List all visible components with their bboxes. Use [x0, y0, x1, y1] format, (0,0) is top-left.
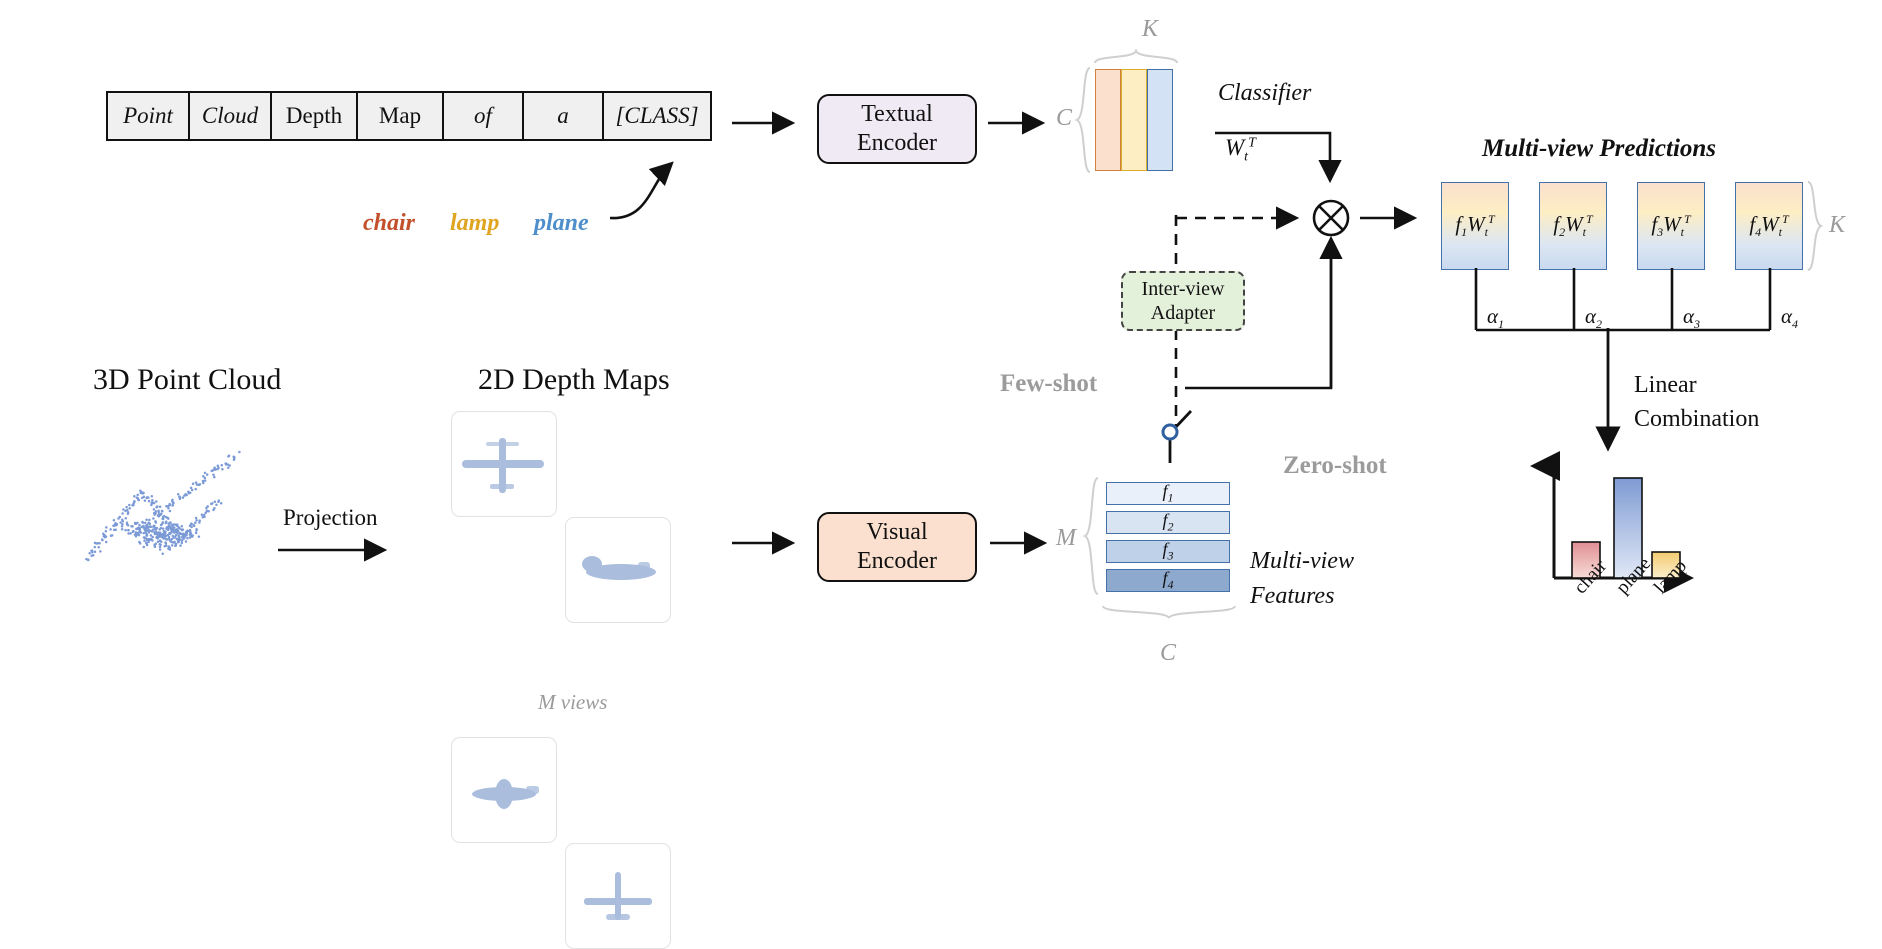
depth-map-thumb-1[interactable] [451, 411, 557, 517]
feature-row-f4: f4 [1106, 569, 1230, 592]
arrow-visual-encoder-to-features [990, 533, 1056, 553]
feature-label-f3: f3 [1162, 539, 1173, 564]
arrow-zero-shot-to-multiply [1318, 233, 1338, 391]
depth-map-shape-top [452, 738, 556, 842]
zero-shot-switch-path [1155, 240, 1345, 425]
visual-encoder-box[interactable]: Visual Encoder [817, 512, 977, 582]
arrow-textual-encoder-to-classifier [988, 113, 1054, 133]
classifier-matrix [1095, 69, 1173, 171]
features-brace-left [1082, 476, 1100, 598]
point-cloud-title: 3D Point Cloud [93, 363, 281, 397]
multi-view-features-line2: Features [1250, 583, 1334, 610]
prompt-token-cloud: Cloud [190, 93, 272, 139]
arrow-adapter-to-multiply-dashed [1176, 208, 1308, 228]
alpha-label-1: α1 [1487, 304, 1504, 332]
visual-encoder-line1: Visual [866, 518, 927, 547]
predictions-brace-right [1806, 180, 1824, 272]
depth-map-thumb-3[interactable] [451, 737, 557, 843]
feature-label-f4: f4 [1162, 568, 1173, 593]
prompt-token-class: [CLASS] [604, 93, 710, 139]
prompt-token-a: a [524, 93, 604, 139]
visual-encoder-line2: Encoder [857, 547, 937, 576]
feature-label-f1: f1 [1162, 481, 1173, 506]
prediction-label-4: f4WtT [1749, 212, 1788, 240]
feature-row-f1: f1 [1106, 482, 1230, 505]
projection-label: Projection [283, 505, 378, 531]
m-views-label: M views [538, 690, 607, 715]
prediction-box-3: f3WtT [1637, 182, 1705, 270]
textual-encoder-line2: Encoder [857, 129, 937, 158]
arrow-depthmaps-to-visual-encoder [732, 533, 804, 553]
prediction-box-2: f2WtT [1539, 182, 1607, 270]
features-dim-C: C [1160, 640, 1176, 667]
arrow-projection [278, 540, 398, 560]
multi-view-predictions-title: Multi-view Predictions [1482, 135, 1716, 163]
prediction-label-2: f2WtT [1553, 212, 1592, 240]
depth-map-shape-side [566, 518, 670, 622]
feature-row-f2: f2 [1106, 511, 1230, 534]
depth-map-thumb-2[interactable] [565, 517, 671, 623]
linear-combination-line2: Combination [1634, 406, 1759, 433]
textual-encoder-box[interactable]: Textual Encoder [817, 94, 977, 164]
classifier-column-plane [1147, 69, 1173, 171]
few-shot-label: Few-shot [1000, 370, 1097, 398]
linear-combination-line1: Linear [1634, 372, 1697, 399]
prompt-token-row: Point Cloud Depth Map of a [CLASS] [106, 91, 712, 141]
prediction-label-3: f3WtT [1651, 212, 1690, 240]
result-bar-chart: chair plane lamp [1540, 460, 1830, 590]
features-brace-bottom [1101, 604, 1237, 621]
classifier-brace-top [1093, 48, 1179, 65]
arrow-multiply-to-predictions [1360, 208, 1426, 228]
classifier-dim-K: K [1142, 16, 1158, 43]
prompt-token-point: Point [108, 93, 190, 139]
class-word-chair: chair [363, 210, 415, 237]
arrow-classifier-to-multiply [1215, 128, 1375, 206]
arrow-linear-combination [1596, 328, 1620, 468]
depth-map-thumb-4[interactable] [565, 843, 671, 949]
prompt-token-of: of [444, 93, 524, 139]
class-curve-arrow [596, 140, 706, 230]
arrow-prompt-to-textual-encoder [732, 113, 804, 133]
prediction-box-4: f4WtT [1735, 182, 1803, 270]
textual-encoder-line1: Textual [861, 100, 933, 129]
depth-maps-title: 2D Depth Maps [478, 363, 670, 397]
alpha-label-3: α3 [1683, 304, 1700, 332]
point-cloud-illustration [70, 440, 280, 580]
switch-toggle-icon[interactable] [1150, 405, 1196, 465]
alpha-label-4: α4 [1781, 304, 1798, 332]
prediction-label-1: f1WtT [1455, 212, 1494, 240]
feature-row-f3: f3 [1106, 540, 1230, 563]
classifier-brace-left [1074, 66, 1092, 176]
features-dim-M: M [1056, 525, 1076, 552]
classifier-dim-C: C [1056, 105, 1072, 132]
prompt-token-depth: Depth [272, 93, 358, 139]
prompt-token-map: Map [358, 93, 444, 139]
predictions-dim-K: K [1829, 212, 1845, 239]
depth-map-shape-rear [566, 844, 670, 948]
multi-view-features-line1: Multi-view [1250, 548, 1354, 575]
prediction-box-1: f1WtT [1441, 182, 1509, 270]
feature-label-f2: f2 [1162, 510, 1173, 535]
classifier-column-lamp [1121, 69, 1147, 171]
class-word-plane: plane [534, 210, 589, 237]
class-word-lamp: lamp [450, 210, 499, 237]
classifier-column-chair [1095, 69, 1121, 171]
classifier-title: Classifier [1218, 80, 1311, 107]
depth-map-shape-front [452, 412, 556, 516]
zero-shot-label: Zero-shot [1283, 452, 1387, 480]
